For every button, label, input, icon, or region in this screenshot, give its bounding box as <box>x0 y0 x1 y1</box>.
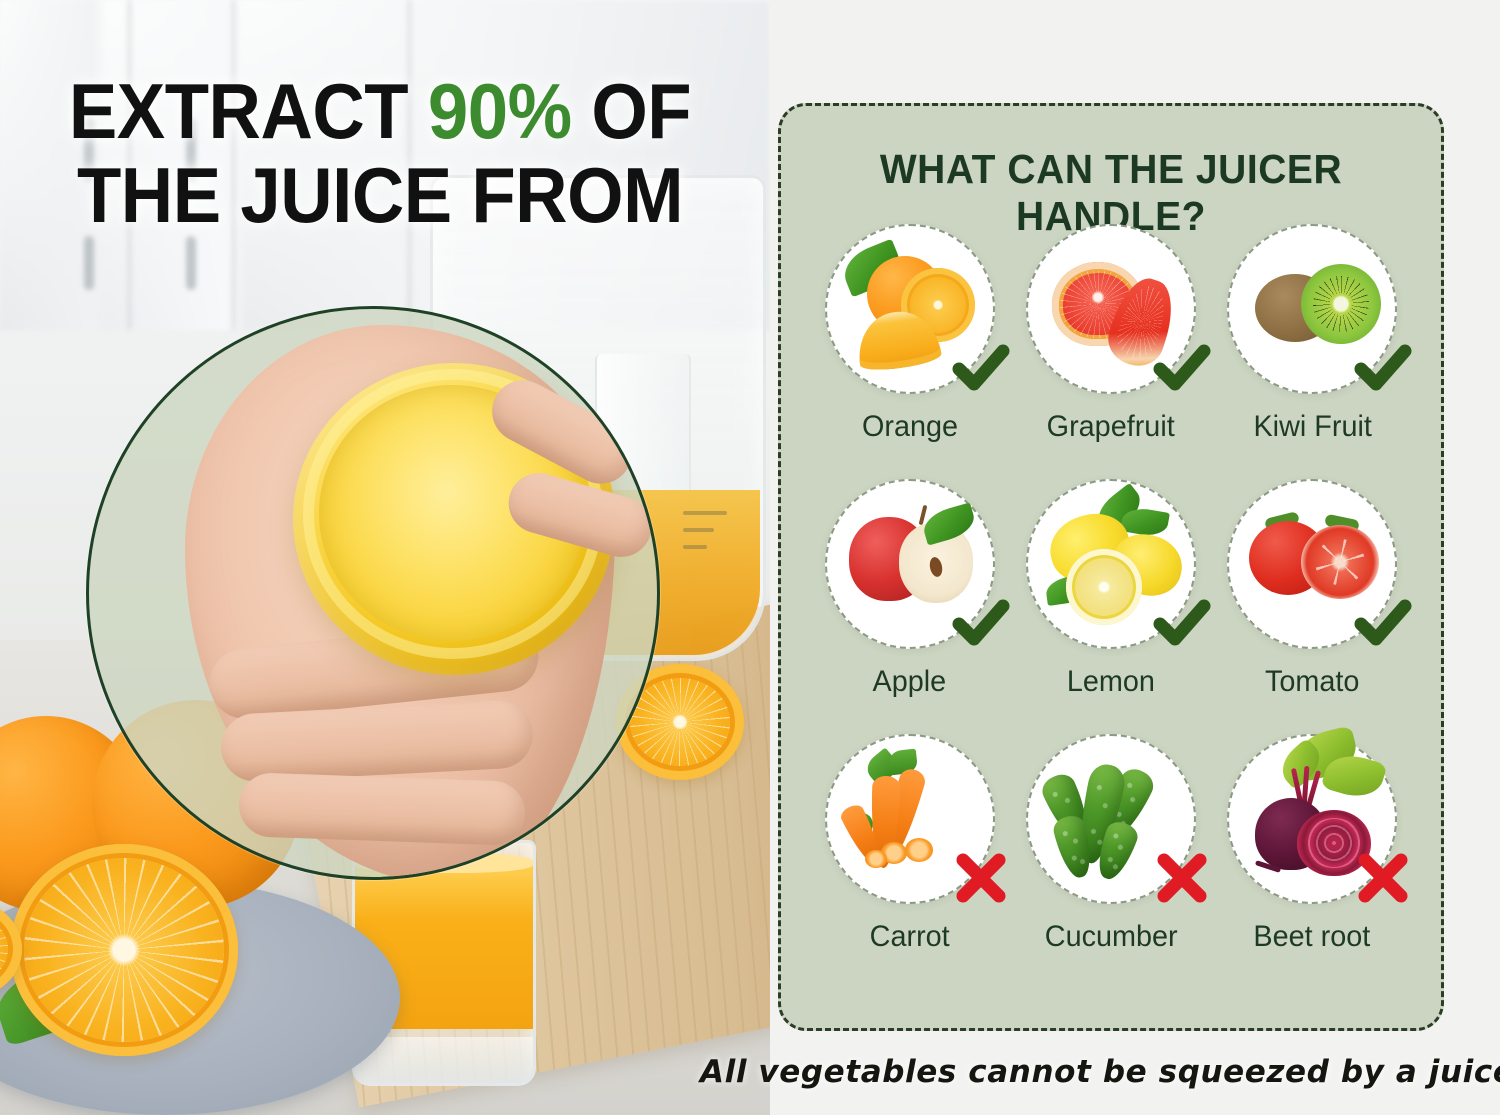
fruit-disc <box>1026 734 1196 904</box>
fruit-label: Kiwi Fruit <box>1253 410 1371 444</box>
fruit-disc <box>1227 479 1397 649</box>
fruit-disc <box>1227 734 1397 904</box>
fruit-grid: Orange Grapefruit <box>809 224 1413 989</box>
infographic-root: EXTRACT 90% OF THE JUICE FROM WHAT CAN T… <box>0 0 1500 1115</box>
fruit-disc <box>825 734 995 904</box>
headline-percent: 90% <box>428 67 572 155</box>
carrot-icon <box>837 746 983 892</box>
fruit-label: Apple <box>873 665 947 699</box>
grid-item-apple[interactable]: Apple <box>810 479 1010 729</box>
fruit-disc <box>825 479 995 649</box>
fruit-label: Cucumber <box>1045 920 1178 954</box>
grid-item-lemon[interactable]: Lemon <box>1011 479 1211 729</box>
grid-item-carrot[interactable]: Carrot <box>810 734 1010 984</box>
grid-item-orange[interactable]: Orange <box>810 224 1010 474</box>
tomato-icon <box>1239 491 1385 637</box>
orange-fruit-icon <box>837 236 983 382</box>
grid-item-kiwi-fruit[interactable]: Kiwi Fruit <box>1212 224 1412 474</box>
fruit-label: Lemon <box>1067 665 1155 699</box>
cucumber-icon <box>1038 746 1184 892</box>
orange-half-plate <box>10 844 238 1056</box>
apple-icon <box>837 491 983 637</box>
fruit-disc <box>825 224 995 394</box>
fruit-label: Tomato <box>1265 665 1359 699</box>
grapefruit-icon <box>1038 236 1184 382</box>
fruit-label: Beet root <box>1254 920 1371 954</box>
grid-item-cucumber[interactable]: Cucumber <box>1011 734 1211 984</box>
juicer-compatibility-panel: WHAT CAN THE JUICER HANDLE? Orange <box>778 103 1444 1031</box>
headline-part2: OF <box>572 67 692 155</box>
headline: EXTRACT 90% OF THE JUICE FROM <box>27 72 734 235</box>
fruit-label: Grapefruit <box>1047 410 1175 444</box>
lemon-icon <box>1038 491 1184 637</box>
grid-item-tomato[interactable]: Tomato <box>1212 479 1412 729</box>
fruit-disc <box>1227 224 1397 394</box>
footer-caption: All vegetables cannot be squeezed by a j… <box>700 1054 1490 1090</box>
fruit-label: Orange <box>862 410 958 444</box>
grid-item-beet-root[interactable]: Beet root <box>1212 734 1412 984</box>
grid-item-grapefruit[interactable]: Grapefruit <box>1011 224 1211 474</box>
headline-part1: EXTRACT <box>69 67 428 155</box>
measurement-marks <box>683 511 727 562</box>
headline-line2: THE JUICE FROM <box>27 156 734 236</box>
fruit-label: Carrot <box>870 920 950 954</box>
beetroot-icon <box>1239 746 1385 892</box>
fruit-disc <box>1026 224 1196 394</box>
hero-callout-circle <box>86 306 660 880</box>
fruit-disc <box>1026 479 1196 649</box>
kiwi-fruit-icon <box>1239 236 1385 382</box>
